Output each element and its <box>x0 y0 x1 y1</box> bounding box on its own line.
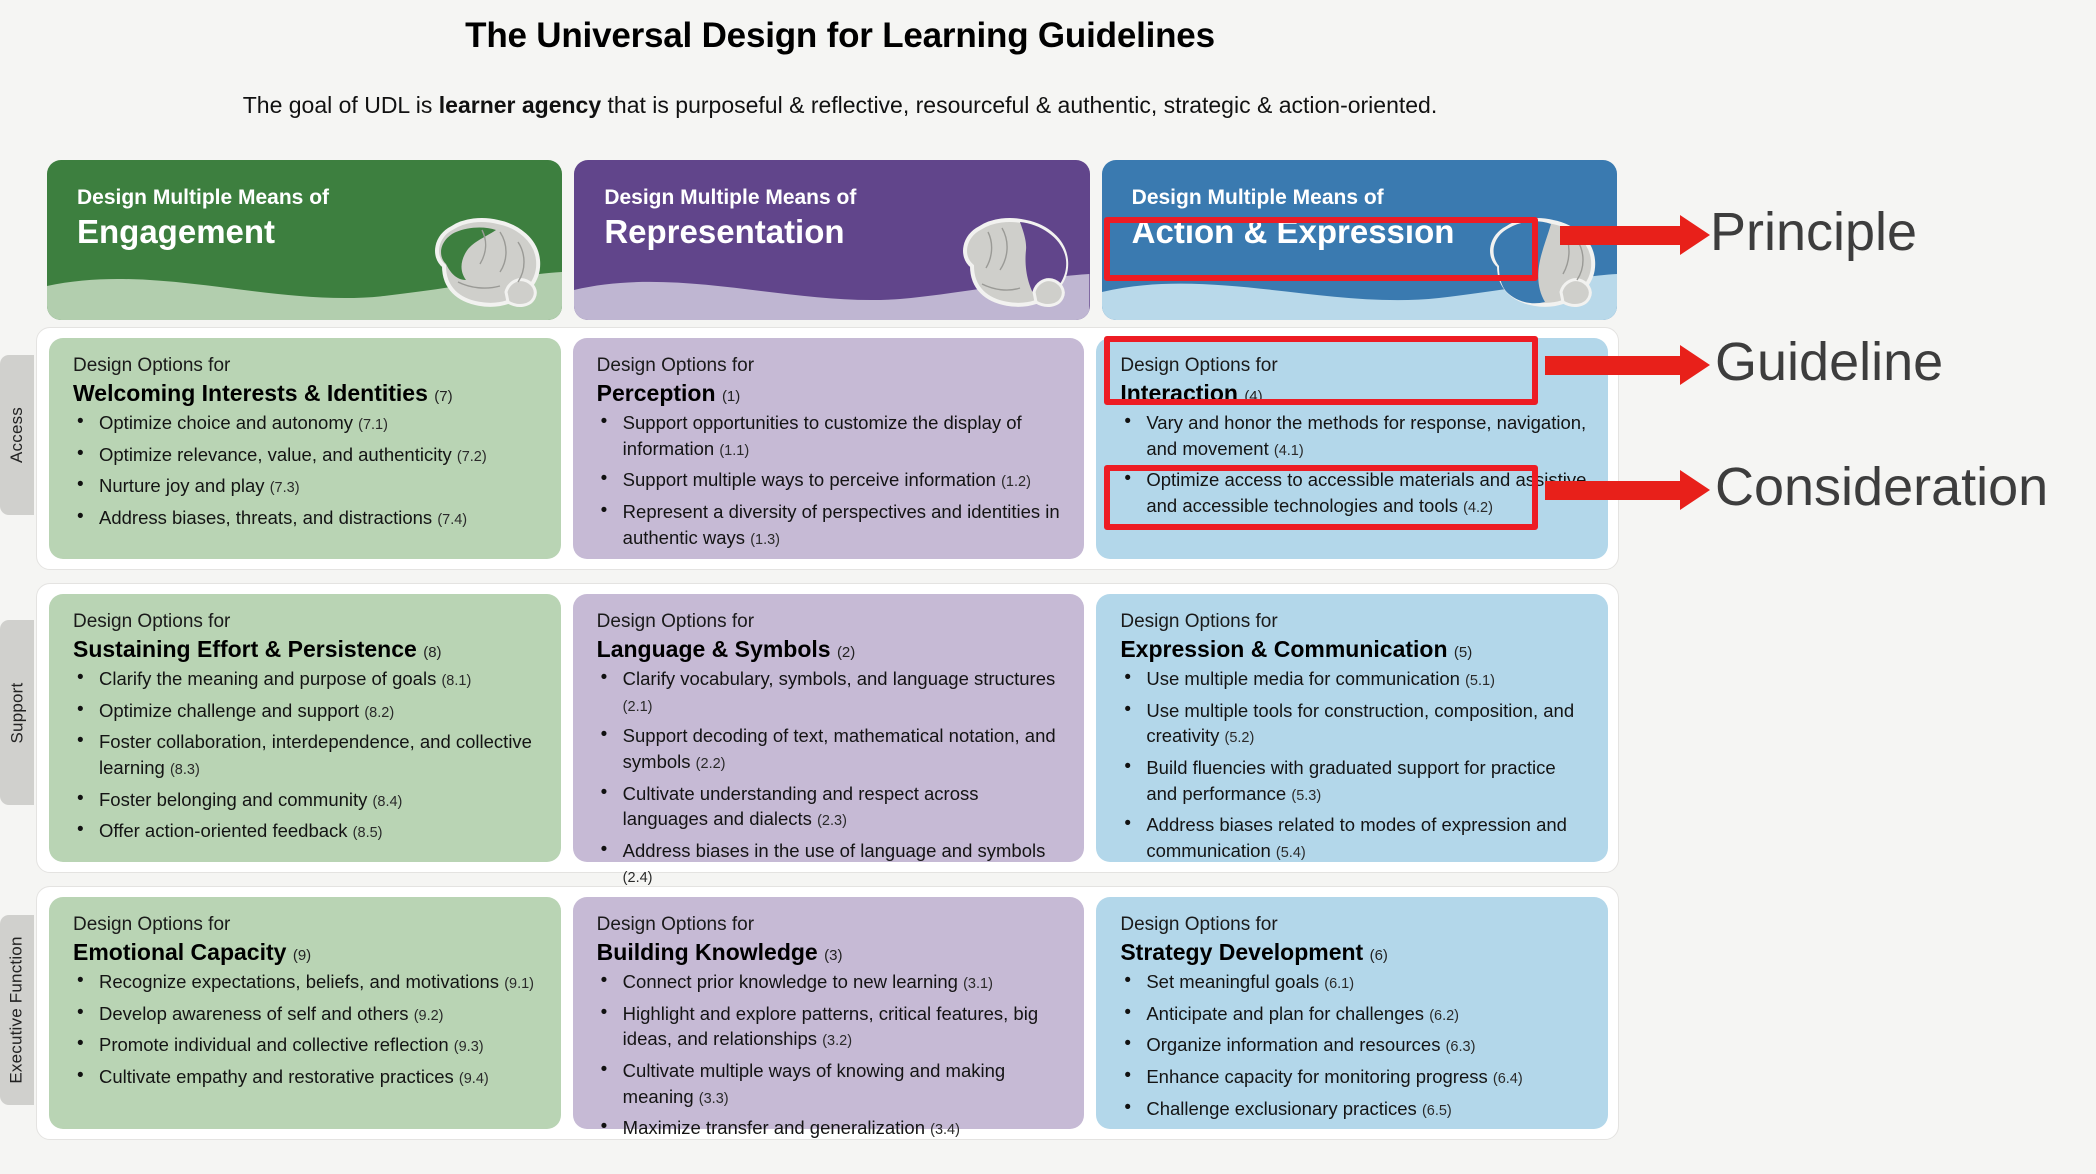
principle-eyebrow: Design Multiple Means of <box>604 186 1089 210</box>
principle-header-representation[interactable]: Design Multiple Means of Representation <box>574 160 1089 320</box>
card-eyebrow: Design Options for <box>73 913 541 938</box>
list-item[interactable]: Promote individual and collective reflec… <box>73 1032 541 1058</box>
list-item[interactable]: Address biases in the use of language an… <box>597 838 1065 889</box>
consideration-text: Cultivate understanding and respect acro… <box>623 783 979 830</box>
row-tab-label: Access <box>7 407 27 463</box>
list-item[interactable]: Develop awareness of self and others (9.… <box>73 1001 541 1027</box>
consideration-number: (9.1) <box>504 976 534 992</box>
list-item[interactable]: Connect prior knowledge to new learning … <box>597 969 1065 995</box>
consideration-text: Vary and honor the methods for response,… <box>1146 412 1586 459</box>
consideration-list: Support opportunities to customize the d… <box>597 410 1065 550</box>
card-title-number: (2) <box>837 644 855 661</box>
consideration-text: Address biases related to modes of expre… <box>1146 814 1567 861</box>
consideration-list: Clarify the meaning and purpose of goals… <box>73 666 541 843</box>
card-title-text: Building Knowledge <box>597 939 818 965</box>
list-item[interactable]: Optimize challenge and support (8.2) <box>73 698 541 724</box>
consideration-text: Support opportunities to customize the d… <box>623 412 1022 459</box>
list-item[interactable]: Cultivate understanding and respect acro… <box>597 781 1065 832</box>
card-title-text: Strategy Development <box>1120 939 1363 965</box>
card-title-number: (8) <box>423 644 441 661</box>
consideration-number: (7.1) <box>358 417 388 433</box>
consideration-text: Foster belonging and community <box>99 789 367 810</box>
list-item[interactable]: Support decoding of text, mathematical n… <box>597 723 1065 774</box>
consideration-number: (4.1) <box>1274 443 1304 459</box>
card-eyebrow: Design Options for <box>1120 354 1588 379</box>
principle-name: Representation <box>604 212 1089 252</box>
consideration-text: Optimize choice and autonomy <box>99 412 353 433</box>
card-title: Welcoming Interests & Identities (7) <box>73 379 541 408</box>
principle-header-row: Design Multiple Means of Engagement Desi… <box>47 160 1617 320</box>
card-eyebrow: Design Options for <box>73 354 541 379</box>
list-item[interactable]: Set meaningful goals (6.1) <box>1120 969 1588 995</box>
consideration-number: (6.4) <box>1493 1071 1523 1087</box>
card-title-text: Interaction <box>1120 380 1238 406</box>
annotation-arrow-consideration <box>1545 470 1710 510</box>
row-tab-executive-function[interactable]: Executive Function <box>0 915 34 1105</box>
card-eyebrow: Design Options for <box>1120 610 1588 635</box>
annotation-label-consideration: Consideration <box>1715 460 2048 514</box>
consideration-text: Represent a diversity of perspectives an… <box>623 501 1060 548</box>
consideration-number: (6.1) <box>1324 976 1354 992</box>
card-sustaining-effort-persistence[interactable]: Design Options for Sustaining Effort & P… <box>49 594 561 862</box>
consideration-text: Foster collaboration, interdependence, a… <box>99 731 532 778</box>
principle-eyebrow: Design Multiple Means of <box>77 186 562 210</box>
consideration-text: Clarify the meaning and purpose of goals <box>99 668 436 689</box>
consideration-text: Build fluencies with graduated support f… <box>1146 757 1555 804</box>
guideline-row-access: Design Options for Welcoming Interests &… <box>36 327 1619 570</box>
page-title: The Universal Design for Learning Guidel… <box>0 16 1680 56</box>
card-title-text: Language & Symbols <box>597 636 831 662</box>
consideration-number: (6.3) <box>1446 1039 1476 1055</box>
page-subtitle: The goal of UDL is learner agency that i… <box>0 92 1680 119</box>
card-title-number: (5) <box>1454 644 1472 661</box>
annotation-label-guideline: Guideline <box>1715 335 1943 389</box>
card-eyebrow: Design Options for <box>73 610 541 635</box>
card-title-number: (9) <box>293 947 311 964</box>
card-title-text: Emotional Capacity <box>73 939 286 965</box>
consideration-number: (1.1) <box>719 443 749 459</box>
consideration-text: Clarify vocabulary, symbols, and languag… <box>623 668 1056 689</box>
list-item[interactable]: Optimize access to accessible materials … <box>1120 467 1588 518</box>
consideration-number: (5.4) <box>1276 845 1306 861</box>
principle-name: Action & Expression <box>1132 212 1617 252</box>
annotation-arrow-guideline <box>1545 345 1710 385</box>
consideration-number: (2.3) <box>817 813 847 829</box>
consideration-list: Vary and honor the methods for response,… <box>1120 410 1588 518</box>
principle-name: Engagement <box>77 212 562 252</box>
list-item[interactable]: Foster belonging and community (8.4) <box>73 787 541 813</box>
list-item[interactable]: Clarify the meaning and purpose of goals… <box>73 666 541 692</box>
list-item[interactable]: Highlight and explore patterns, critical… <box>597 1001 1065 1052</box>
list-item[interactable]: Represent a diversity of perspectives an… <box>597 499 1065 550</box>
row-tab-support[interactable]: Support <box>0 620 34 805</box>
card-title-number: (7) <box>434 388 452 405</box>
consideration-number: (2.1) <box>623 699 653 715</box>
consideration-text: Optimize relevance, value, and authentic… <box>99 444 452 465</box>
list-item[interactable]: Cultivate multiple ways of knowing and m… <box>597 1058 1065 1109</box>
consideration-text: Support multiple ways to perceive inform… <box>623 469 996 490</box>
row-tab-label: Support <box>7 682 27 743</box>
card-title: Emotional Capacity (9) <box>73 938 541 967</box>
consideration-number: (7.4) <box>437 512 467 528</box>
guideline-row-support: Design Options for Sustaining Effort & P… <box>36 583 1619 873</box>
card-title-text: Sustaining Effort & Persistence <box>73 636 417 662</box>
consideration-number: (7.2) <box>457 449 487 465</box>
udl-guidelines-poster: The Universal Design for Learning Guidel… <box>0 0 2096 1174</box>
card-title: Interaction (4) <box>1120 379 1588 408</box>
consideration-list: Clarify vocabulary, symbols, and languag… <box>597 666 1065 920</box>
consideration-text: Optimize challenge and support <box>99 700 359 721</box>
list-item[interactable]: Vary and honor the methods for response,… <box>1120 410 1588 461</box>
consideration-number: (8.5) <box>353 825 383 841</box>
card-strategy-development[interactable]: Design Options for Strategy Development … <box>1096 897 1608 1129</box>
consideration-list: Optimize choice and autonomy (7.1) Optim… <box>73 410 541 530</box>
card-welcoming-interests-identities[interactable]: Design Options for Welcoming Interests &… <box>49 338 561 559</box>
consideration-number: (2.4) <box>623 870 653 886</box>
guideline-row-executive-function: Design Options for Emotional Capacity (9… <box>36 886 1619 1140</box>
principle-eyebrow: Design Multiple Means of <box>1132 186 1617 210</box>
consideration-text: Cultivate multiple ways of knowing and m… <box>623 1060 1006 1107</box>
consideration-text: Optimize access to accessible materials … <box>1146 469 1586 516</box>
card-title: Building Knowledge (3) <box>597 938 1065 967</box>
consideration-number: (5.3) <box>1291 788 1321 804</box>
consideration-number: (2.2) <box>696 756 726 772</box>
list-item[interactable]: Organize information and resources (6.3) <box>1120 1032 1588 1058</box>
subtitle-text-after: that is purposeful & reflective, resourc… <box>601 92 1437 118</box>
consideration-text: Use multiple media for communication <box>1146 668 1460 689</box>
consideration-list: Set meaningful goals (6.1) Anticipate an… <box>1120 969 1588 1121</box>
consideration-text: Recognize expectations, beliefs, and mot… <box>99 971 499 992</box>
card-eyebrow: Design Options for <box>597 913 1065 938</box>
card-title: Strategy Development (6) <box>1120 938 1588 967</box>
consideration-text: Anticipate and plan for challenges <box>1146 1003 1424 1024</box>
consideration-number: (3.3) <box>699 1091 729 1107</box>
card-title-number: (6) <box>1370 947 1388 964</box>
principle-header-action-expression[interactable]: Design Multiple Means of Action & Expres… <box>1102 160 1617 320</box>
annotation-arrow-principle <box>1560 215 1710 255</box>
card-emotional-capacity[interactable]: Design Options for Emotional Capacity (9… <box>49 897 561 1129</box>
consideration-number: (3.1) <box>963 976 993 992</box>
card-eyebrow: Design Options for <box>1120 913 1588 938</box>
annotation-label-principle: Principle <box>1710 205 1917 259</box>
principle-header-engagement[interactable]: Design Multiple Means of Engagement <box>47 160 562 320</box>
list-item[interactable]: Enhance capacity for monitoring progress… <box>1120 1064 1588 1090</box>
consideration-text: Enhance capacity for monitoring progress <box>1146 1066 1487 1087</box>
consideration-text: Support decoding of text, mathematical n… <box>623 725 1056 772</box>
consideration-number: (8.3) <box>170 762 200 778</box>
subtitle-emphasis: learner agency <box>439 92 601 118</box>
list-item[interactable]: Address biases related to modes of expre… <box>1120 812 1588 863</box>
list-item[interactable]: Foster collaboration, interdependence, a… <box>73 729 541 780</box>
consideration-number: (1.2) <box>1001 474 1031 490</box>
card-title-number: (4) <box>1244 388 1262 405</box>
consideration-number: (8.1) <box>441 673 471 689</box>
consideration-number: (7.3) <box>270 480 300 496</box>
consideration-text: Promote individual and collective reflec… <box>99 1034 449 1055</box>
consideration-number: (5.1) <box>1465 673 1495 689</box>
list-item[interactable]: Use multiple tools for construction, com… <box>1120 698 1588 749</box>
consideration-number: (5.2) <box>1224 730 1254 746</box>
consideration-number: (8.2) <box>364 705 394 721</box>
consideration-number: (9.2) <box>414 1008 444 1024</box>
list-item[interactable]: Recognize expectations, beliefs, and mot… <box>73 969 541 995</box>
consideration-text: Challenge exclusionary practices <box>1146 1098 1416 1119</box>
list-item[interactable]: Build fluencies with graduated support f… <box>1120 755 1588 806</box>
list-item[interactable]: Clarify vocabulary, symbols, and languag… <box>597 666 1065 717</box>
list-item[interactable]: Support opportunities to customize the d… <box>597 410 1065 461</box>
consideration-number: (8.4) <box>373 794 403 810</box>
list-item[interactable]: Challenge exclusionary practices (6.5) <box>1120 1096 1588 1122</box>
consideration-list: Recognize expectations, beliefs, and mot… <box>73 969 541 1089</box>
card-eyebrow: Design Options for <box>597 354 1065 379</box>
subtitle-text-before: The goal of UDL is <box>243 92 439 118</box>
consideration-text: Maximize transfer and generalization <box>623 1117 925 1138</box>
consideration-text: Use multiple tools for construction, com… <box>1146 700 1574 747</box>
list-item[interactable]: Maximize transfer and generalization (3.… <box>597 1115 1065 1141</box>
consideration-text: Address biases, threats, and distraction… <box>99 507 432 528</box>
card-title-text: Expression & Communication <box>1120 636 1447 662</box>
consideration-number: (9.4) <box>459 1071 489 1087</box>
card-title: Perception (1) <box>597 379 1065 408</box>
list-item[interactable]: Anticipate and plan for challenges (6.2) <box>1120 1001 1588 1027</box>
consideration-list: Connect prior knowledge to new learning … <box>597 969 1065 1140</box>
consideration-number: (6.2) <box>1429 1008 1459 1024</box>
consideration-text: Develop awareness of self and others <box>99 1003 409 1024</box>
consideration-text: Nurture joy and play <box>99 475 265 496</box>
card-title: Sustaining Effort & Persistence (8) <box>73 635 541 664</box>
consideration-number: (1.3) <box>750 532 780 548</box>
list-item[interactable]: Optimize relevance, value, and authentic… <box>73 442 541 468</box>
card-title: Language & Symbols (2) <box>597 635 1065 664</box>
consideration-text: Organize information and resources <box>1146 1034 1440 1055</box>
card-title-number: (1) <box>722 388 740 405</box>
list-item[interactable]: Address biases, threats, and distraction… <box>73 505 541 531</box>
list-item[interactable]: Optimize choice and autonomy (7.1) <box>73 410 541 436</box>
card-perception[interactable]: Design Options for Perception (1) Suppor… <box>573 338 1085 559</box>
card-interaction[interactable]: Design Options for Interaction (4) Vary … <box>1096 338 1608 559</box>
list-item[interactable]: Cultivate empathy and restorative practi… <box>73 1064 541 1090</box>
consideration-text: Connect prior knowledge to new learning <box>623 971 958 992</box>
card-building-knowledge[interactable]: Design Options for Building Knowledge (3… <box>573 897 1085 1129</box>
consideration-text: Cultivate empathy and restorative practi… <box>99 1066 454 1087</box>
card-title-text: Perception <box>597 380 716 406</box>
card-eyebrow: Design Options for <box>597 610 1065 635</box>
list-item[interactable]: Offer action-oriented feedback (8.5) <box>73 818 541 844</box>
row-tab-label: Executive Function <box>7 936 27 1083</box>
list-item[interactable]: Use multiple media for communication (5.… <box>1120 666 1588 692</box>
list-item[interactable]: Nurture joy and play (7.3) <box>73 473 541 499</box>
consideration-list: Use multiple media for communication (5.… <box>1120 666 1588 863</box>
consideration-text: Address biases in the use of language an… <box>623 840 1046 861</box>
consideration-number: (9.3) <box>454 1039 484 1055</box>
card-language-symbols[interactable]: Design Options for Language & Symbols (2… <box>573 594 1085 862</box>
card-title-number: (3) <box>824 947 842 964</box>
consideration-number: (3.4) <box>930 1122 960 1138</box>
card-expression-communication[interactable]: Design Options for Expression & Communic… <box>1096 594 1608 862</box>
card-title-text: Welcoming Interests & Identities <box>73 380 428 406</box>
consideration-number: (3.2) <box>822 1033 852 1049</box>
card-title: Expression & Communication (5) <box>1120 635 1588 664</box>
consideration-number: (6.5) <box>1422 1103 1452 1119</box>
list-item[interactable]: Support multiple ways to perceive inform… <box>597 467 1065 493</box>
row-tab-access[interactable]: Access <box>0 355 34 515</box>
consideration-text: Set meaningful goals <box>1146 971 1319 992</box>
consideration-text: Offer action-oriented feedback <box>99 820 348 841</box>
consideration-number: (4.2) <box>1463 500 1493 516</box>
